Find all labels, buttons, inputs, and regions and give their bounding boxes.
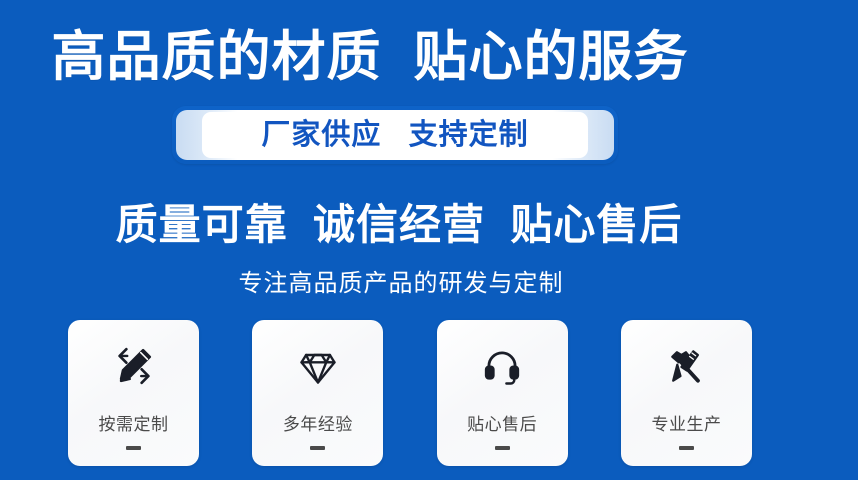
slogan-pill-inner: 厂家供应 支持定制 bbox=[202, 112, 588, 158]
headline-secondary: 质量可靠 诚信经营 贴心售后 bbox=[0, 200, 858, 250]
feature-card-dash bbox=[310, 446, 325, 450]
feature-card-custom[interactable]: 按需定制 bbox=[68, 320, 199, 466]
feature-card-aftersales[interactable]: 贴心售后 bbox=[437, 320, 568, 466]
feature-card-label: 专业生产 bbox=[651, 414, 721, 436]
feature-card-production[interactable]: 专业生产 bbox=[621, 320, 752, 466]
feature-card-label: 贴心售后 bbox=[467, 414, 537, 436]
feature-card-list: 按需定制 多年经验 bbox=[68, 320, 752, 466]
promo-banner: 高品质的材质 贴心的服务 厂家供应 支持定制 质量可靠 诚信经营 贴心售后 专注… bbox=[0, 0, 858, 480]
diamond-icon bbox=[293, 340, 343, 392]
feature-card-dash bbox=[495, 446, 510, 450]
slogan-pill-outer: 厂家供应 支持定制 bbox=[176, 110, 614, 160]
tagline-text: 专注高品质产品的研发与定制 bbox=[0, 268, 858, 300]
feature-card-dash bbox=[126, 446, 141, 450]
pencil-ruler-icon bbox=[109, 340, 159, 392]
feature-card-experience[interactable]: 多年经验 bbox=[252, 320, 383, 466]
feature-card-dash bbox=[679, 446, 694, 450]
slogan-pill-text: 厂家供应 支持定制 bbox=[261, 120, 528, 150]
hammer-screwdriver-icon bbox=[661, 340, 711, 392]
feature-card-label: 按需定制 bbox=[99, 414, 169, 436]
slogan-pill: 厂家供应 支持定制 bbox=[172, 106, 618, 164]
feature-card-label: 多年经验 bbox=[283, 414, 353, 436]
headline-primary: 高品质的材质 贴心的服务 bbox=[0, 26, 858, 88]
headset-icon bbox=[477, 340, 527, 392]
